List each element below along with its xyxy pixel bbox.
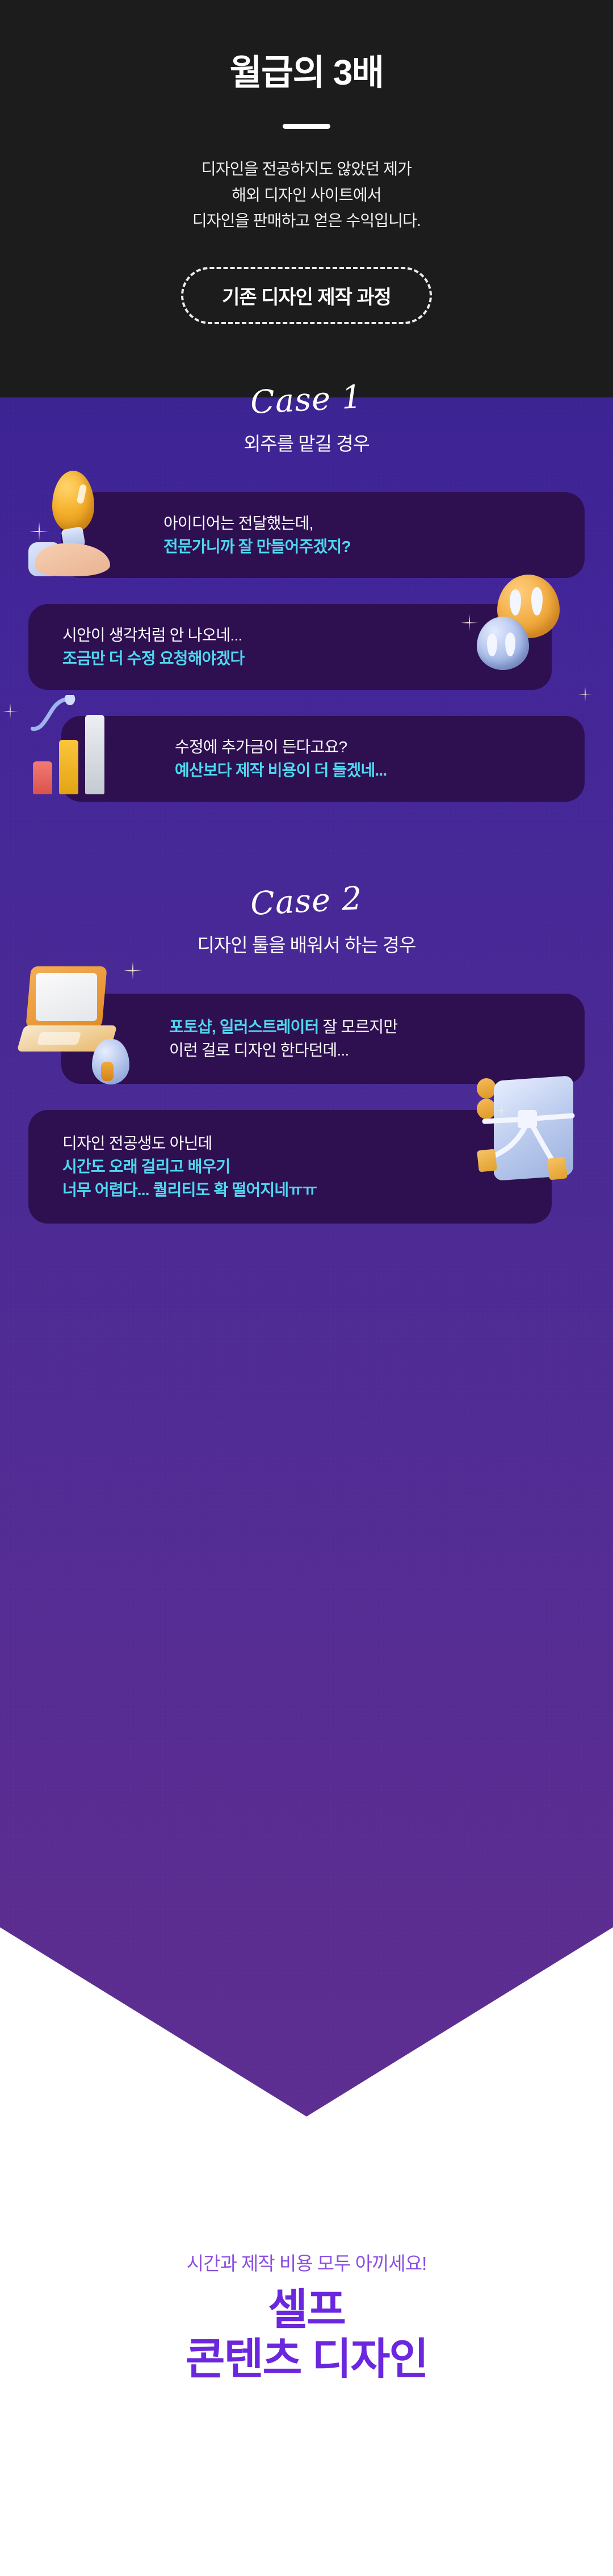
- chat-card-5-line-2: 시간도 오래 걸리고 배우기: [62, 1155, 317, 1178]
- footer-title-line-2: 콘텐츠 디자인: [186, 2335, 428, 2385]
- chat-card-4-text: 포토샵, 일러스트레이터 잘 모르지만 이런 걸로 디자인 한다던데...: [169, 1015, 397, 1062]
- case-1-heading: Case 1 외주를 맡길 경우: [0, 384, 613, 456]
- sparkle-icon: [30, 522, 49, 541]
- footer-title: 셀프 콘텐츠 디자인: [186, 2286, 428, 2384]
- chat-card-3-line-2: 예산보다 제작 비용이 더 들겠네...: [175, 759, 387, 782]
- sparkle-icon: [578, 687, 593, 702]
- chat-card-4: 포토샵, 일러스트레이터 잘 모르지만 이런 걸로 디자인 한다던데...: [61, 994, 585, 1084]
- chat-card-5-line-1: 디자인 전공생도 아닌데: [62, 1132, 317, 1155]
- footer-tagline: 시간과 제작 비용 모두 아끼세요!: [187, 2248, 427, 2276]
- chat-card-4-line-2: 이런 걸로 디자인 한다던데...: [169, 1038, 397, 1062]
- chat-card-1-text: 아이디어는 전달했는데, 전문가니까 잘 만들어주겠지?: [163, 512, 351, 559]
- sparkle-icon: [461, 614, 478, 631]
- chat-card-1: 아이디어는 전달했는데, 전문가니까 잘 만들어주겠지?: [61, 492, 585, 578]
- case-2-script-label: Case 2: [250, 882, 363, 920]
- case-2-heading: Case 2 디자인 툴을 배워서 하는 경우: [0, 886, 613, 957]
- process-content: 기존 디자인 제작 과정 Case 1 외주를 맡길 경우 아이디어는 전달했는…: [0, 0, 613, 1224]
- chat-card-5: 디자인 전공생도 아닌데 시간도 오래 걸리고 배우기 너무 어렵다... 퀄리…: [28, 1110, 552, 1224]
- chat-card-3: 수정에 추가금이 든다고요? 예산보다 제작 비용이 더 들겠네...: [61, 716, 585, 802]
- chat-card-2-line-2: 조금만 더 수정 요청해야겠다: [62, 647, 244, 670]
- case-1-script-label: Case 1: [250, 382, 363, 419]
- chat-card-5-text: 디자인 전공생도 아닌데 시간도 오래 걸리고 배우기 너무 어렵다... 퀄리…: [62, 1132, 317, 1202]
- chat-card-3-text: 수정에 추가금이 든다고요? 예산보다 제작 비용이 더 들겠네...: [175, 735, 387, 782]
- case-1-subtitle: 외주를 맡길 경우: [0, 429, 613, 456]
- chat-card-1-line-1: 아이디어는 전달했는데,: [163, 512, 351, 535]
- chat-card-3-line-1: 수정에 추가금이 든다고요?: [175, 735, 387, 759]
- chat-card-4-line-1: 포토샵, 일러스트레이터 잘 모르지만: [169, 1015, 397, 1038]
- footer-title-line-1: 셀프: [186, 2286, 428, 2335]
- chat-card-2-text: 시안이 생각처럼 안 나오네... 조금만 더 수정 요청해야겠다: [62, 623, 244, 671]
- section-badge: 기존 디자인 제작 과정: [181, 267, 432, 324]
- sparkle-icon: [2, 703, 18, 719]
- case-2-subtitle: 디자인 툴을 배워서 하는 경우: [0, 930, 613, 957]
- sparkle-icon: [124, 962, 142, 980]
- footer-section: 시간과 제작 비용 모두 아끼세요! 셀프 콘텐츠 디자인: [0, 2243, 613, 2538]
- chat-card-5-line-3: 너무 어렵다... 퀄리티도 확 떨어지네ㅠㅠ: [62, 1178, 317, 1201]
- sparkle-icon: [494, 1103, 510, 1119]
- chat-card-4-line-1-rest: 잘 모르지만: [319, 1018, 398, 1036]
- chat-card-2-line-1: 시안이 생각처럼 안 나오네...: [62, 623, 244, 647]
- chat-card-4-line-1-highlight: 포토샵, 일러스트레이터: [169, 1018, 319, 1036]
- chat-card-1-line-2: 전문가니까 잘 만들어주겠지?: [163, 535, 351, 558]
